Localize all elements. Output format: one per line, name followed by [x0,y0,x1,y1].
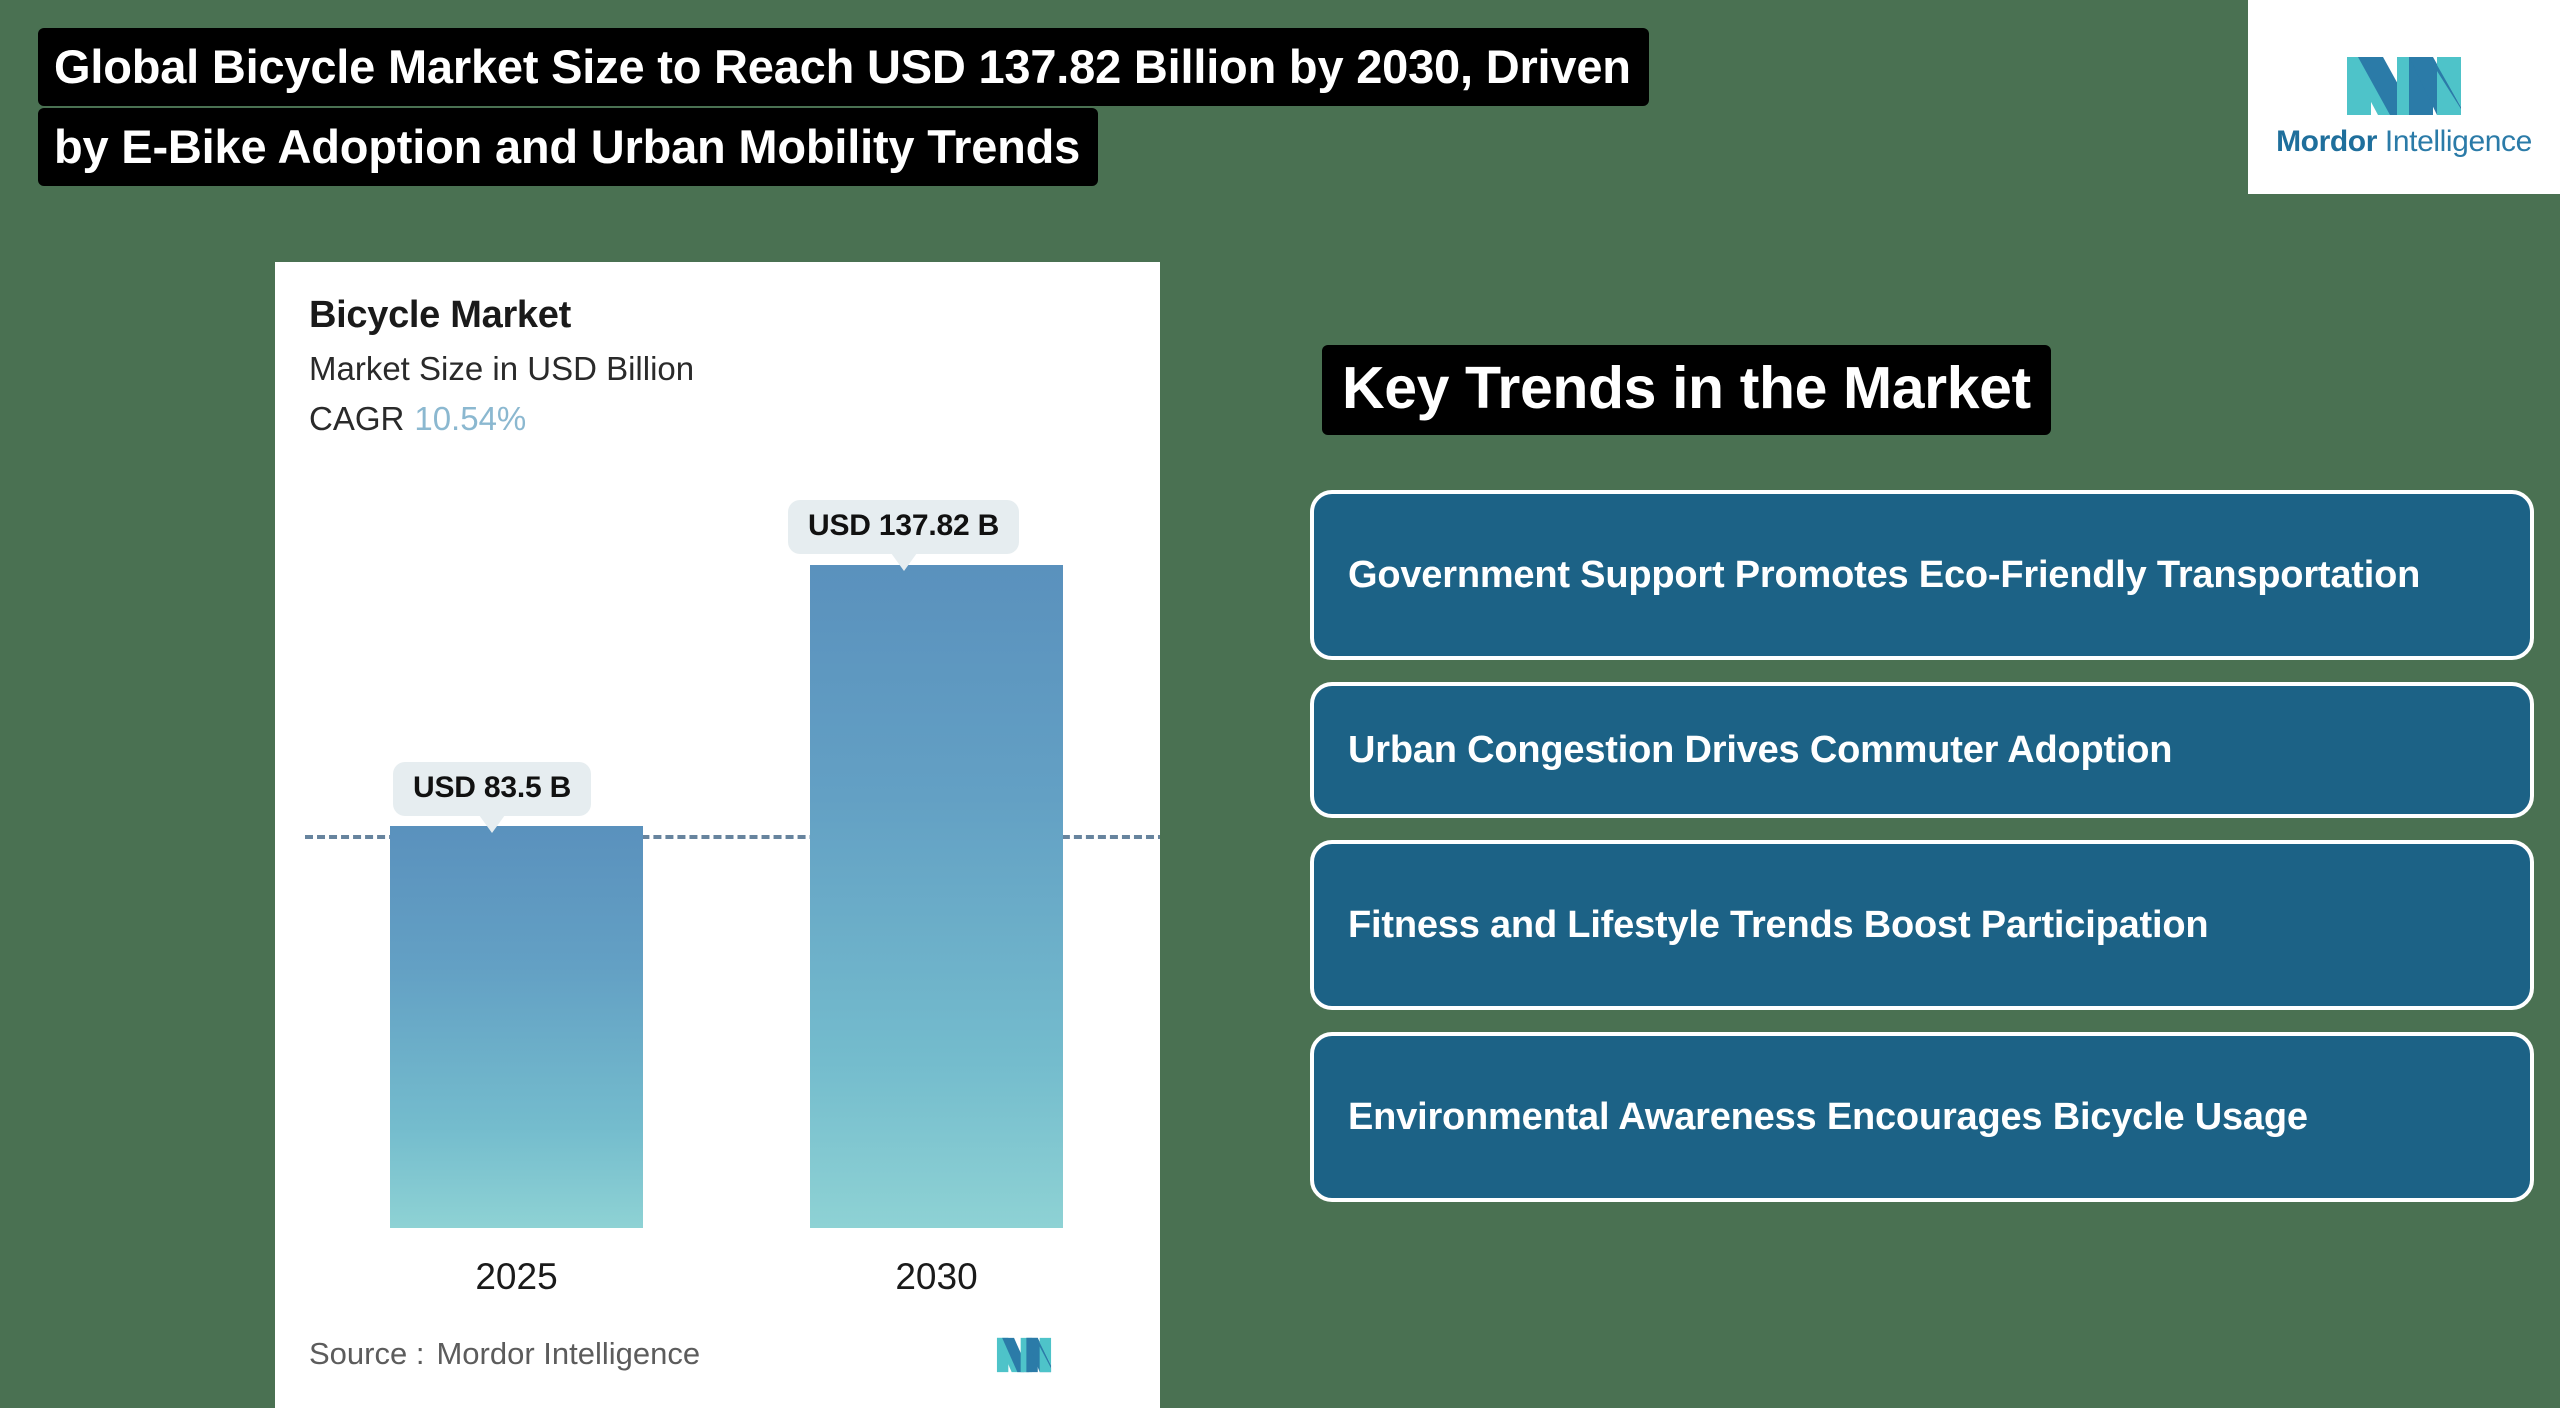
trend-card[interactable]: Environmental Awareness Encourages Bicyc… [1310,1032,2534,1202]
chart-card: Bicycle Market Market Size in USD Billio… [275,262,1160,1408]
trend-card[interactable]: Government Support Promotes Eco-Friendly… [1310,490,2534,660]
value-bubble-2030: USD 137.82 B [788,500,1019,554]
brand-wordmark-light: Intelligence [2377,125,2532,158]
trends-heading-wrap: Key Trends in the Market [1322,345,2051,435]
value-bubble-2025: USD 83.5 B [393,762,591,816]
source-row: Source :Mordor Intelligence [309,1336,700,1372]
bar-2030 [810,565,1063,1228]
trends-heading: Key Trends in the Market [1322,345,2051,435]
brand-wordmark-bold: Mordor [2276,125,2377,158]
x-axis-label-2025: 2025 [390,1256,643,1298]
headline: Global Bicycle Market Size to Reach USD … [38,28,2248,186]
brand-wordmark: Mordor Intelligence [2276,125,2532,159]
source-label: Source : [309,1336,424,1371]
trend-card-list: Government Support Promotes Eco-Friendly… [1310,490,2534,1224]
mordor-intelligence-logo-icon [2345,35,2463,123]
headline-line-1: Global Bicycle Market Size to Reach USD … [38,28,1649,106]
trend-card[interactable]: Fitness and Lifestyle Trends Boost Parti… [1310,840,2534,1010]
trend-card[interactable]: Urban Congestion Drives Commuter Adoptio… [1310,682,2534,818]
brand-logo-panel: Mordor Intelligence [2248,0,2560,194]
mordor-mark-icon [996,1334,1052,1376]
x-axis-label-2030: 2030 [810,1256,1063,1298]
bar-2025 [390,826,643,1228]
bar-chart-plot-area: USD 83.5 B USD 137.82 B 2025 2030 [275,262,1160,1408]
source-value: Mordor Intelligence [436,1336,700,1371]
headline-line-2: by E-Bike Adoption and Urban Mobility Tr… [38,108,1098,186]
